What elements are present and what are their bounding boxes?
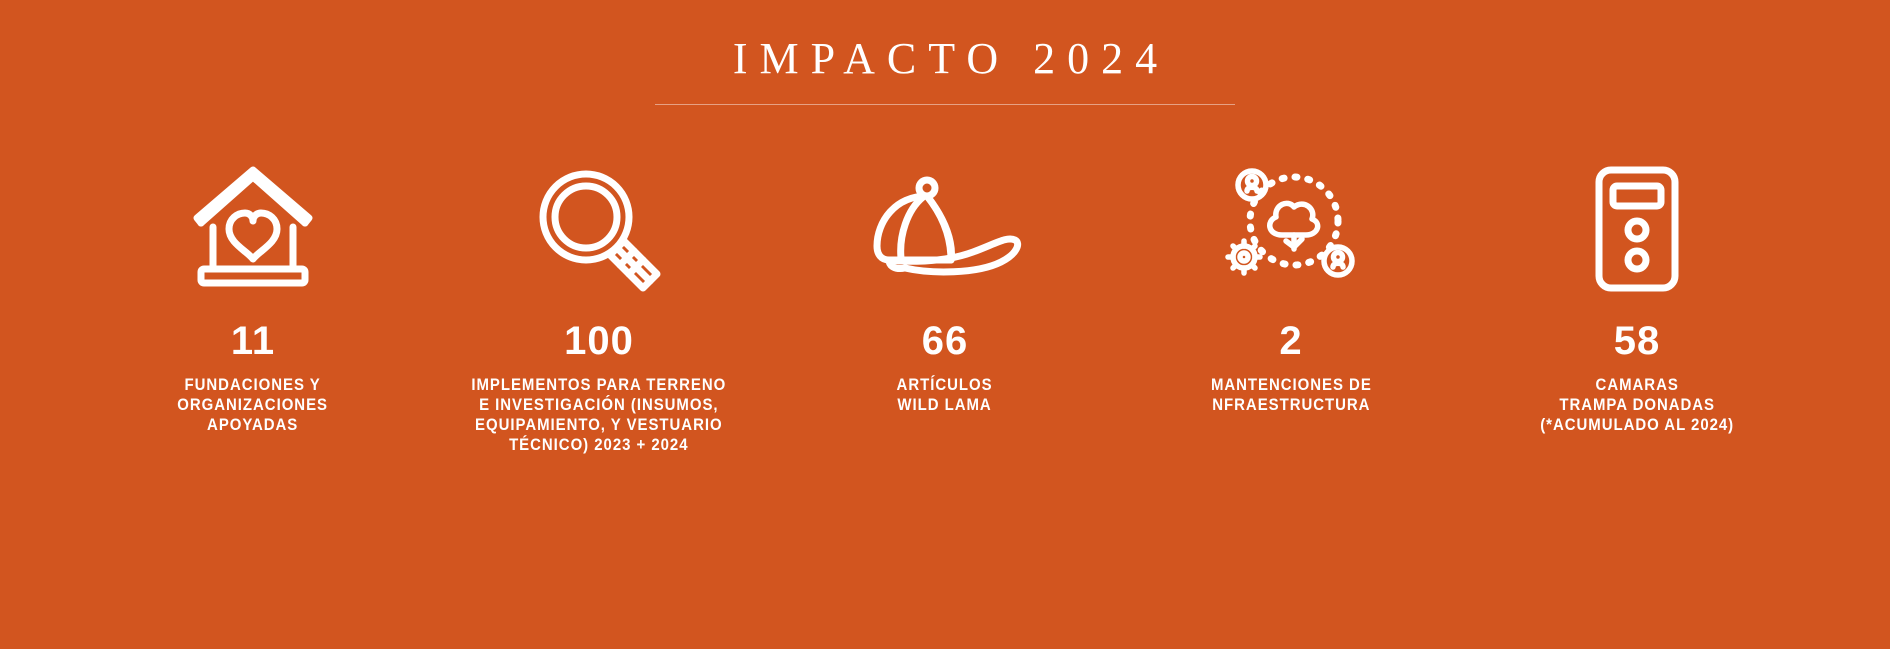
stat-caption: ARTÍCULOS WILD LAMA: [897, 375, 993, 415]
stats-row: 11 FUNDACIONES Y ORGANIZACIONES APOYADAS…: [80, 159, 1810, 455]
cap-icon: [865, 159, 1025, 299]
trees-gears-location-icon: [1216, 159, 1366, 299]
title-divider: [655, 104, 1235, 105]
house-heart-icon: [187, 159, 319, 299]
stat-caption: FUNDACIONES Y ORGANIZACIONES APOYADAS: [178, 375, 329, 435]
stat-caption: CAMARAS TRAMPA DONADAS (*ACUMULADO AL 20…: [1540, 375, 1734, 435]
stat-item: 100 IMPLEMENTOS PARA TERRENO E INVESTIGA…: [426, 159, 772, 455]
stat-item: 11 FUNDACIONES Y ORGANIZACIONES APOYADAS: [80, 159, 426, 435]
stat-number: 66: [922, 321, 969, 361]
impact-infographic: IMPACTO 2024 11 FUNDACIONES Y ORGANIZACI…: [0, 0, 1890, 649]
stat-number: 100: [564, 321, 634, 361]
stat-item: 58 CAMARAS TRAMPA DONADAS (*ACUMULADO AL…: [1464, 159, 1810, 435]
stat-number: 2: [1279, 321, 1302, 361]
page-title: IMPACTO 2024: [721, 36, 1169, 82]
magnifying-glass-icon: [534, 159, 664, 299]
stat-caption: MANTENCIONES DE NFRAESTRUCTURA: [1211, 375, 1372, 415]
stat-item: 2 MANTENCIONES DE NFRAESTRUCTURA: [1118, 159, 1464, 415]
stat-number: 11: [231, 321, 275, 361]
stat-item: 66 ARTÍCULOS WILD LAMA: [772, 159, 1118, 415]
stat-caption: IMPLEMENTOS PARA TERRENO E INVESTIGACIÓN…: [472, 375, 727, 455]
header: IMPACTO 2024: [0, 36, 1890, 105]
stat-number: 58: [1614, 321, 1661, 361]
camera-trap-icon: [1587, 159, 1687, 299]
